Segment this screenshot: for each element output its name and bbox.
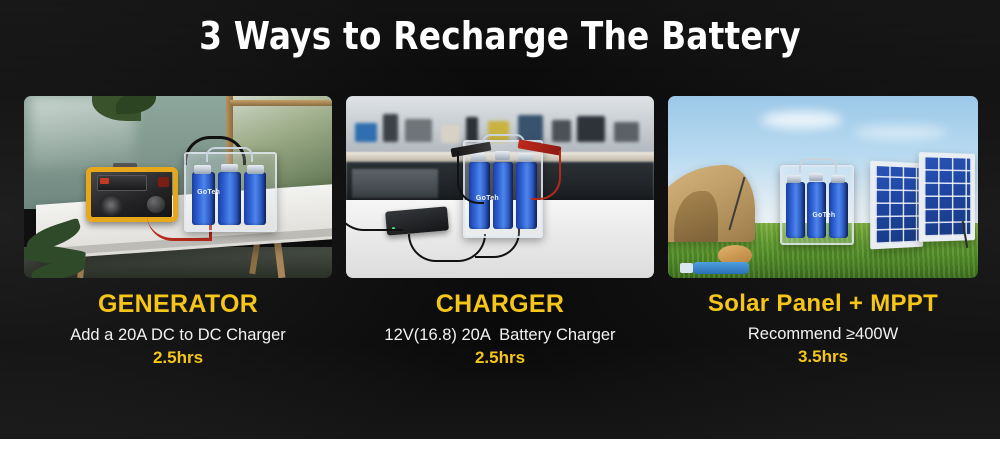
page-title: 3 Ways to Recharge The Battery <box>20 14 980 58</box>
card-subtitle: 12V(16.8) 20A Battery Charger <box>346 326 654 345</box>
tool-item <box>577 116 605 142</box>
cloud <box>854 125 947 140</box>
recharge-banner: 3 Ways to Recharge The Battery <box>0 0 1000 439</box>
battery-terminal <box>809 173 823 181</box>
battery-terminal <box>831 175 845 183</box>
recharge-method-card-charger[interactable]: GoTeh CHARGER 12V(16.8) 20A Battery Char… <box>346 96 654 368</box>
battery-terminal <box>787 175 801 183</box>
battery-terminal <box>247 165 264 174</box>
card-title: CHARGER <box>346 290 654 319</box>
plant <box>24 209 110 278</box>
charger-photo: GoTeh <box>346 96 654 278</box>
battery-brand-label: GoTeh <box>197 189 220 196</box>
tool-item <box>466 117 478 142</box>
battery-cell <box>244 172 266 225</box>
solar-panel-cells <box>875 166 918 244</box>
battery-handle <box>799 158 837 173</box>
bottle-cap <box>680 263 692 274</box>
generator-indicator-light <box>100 178 108 185</box>
card-title: Solar Panel + MPPT <box>668 290 978 318</box>
solar-panel <box>870 160 923 249</box>
solar-photo: GoTeh <box>668 96 978 278</box>
water-bottle <box>693 262 749 275</box>
battery-pack: GoTeh <box>184 152 276 232</box>
card-duration: 3.5hrs <box>668 347 978 367</box>
card-subtitle: Recommend ≥400W <box>668 325 978 344</box>
bottom-white-strip <box>0 439 1000 455</box>
battery-cell <box>218 172 240 225</box>
tool-item <box>552 120 570 142</box>
window-frame-horizontal <box>230 100 332 106</box>
cloud <box>761 111 842 129</box>
battery-terminal <box>194 165 211 174</box>
tool-item <box>355 123 377 142</box>
battery-brand-label: GoTeh <box>812 212 835 219</box>
recharge-methods-list: GoTeh GENERATOR Add a 20A DC to DC Charg… <box>24 96 978 368</box>
battery-pack: GoTeh <box>780 165 854 245</box>
tool-item <box>441 125 459 143</box>
card-duration: 2.5hrs <box>346 348 654 368</box>
solar-caption: Solar Panel + MPPT Recommend ≥400W 3.5hr… <box>668 278 978 367</box>
recharge-method-card-solar[interactable]: GoTeh Solar Panel + MPPT Recomme <box>668 96 978 368</box>
card-title: GENERATOR <box>24 290 332 319</box>
generator-switch <box>158 177 169 187</box>
generator-caption: GENERATOR Add a 20A DC to DC Charger 2.5… <box>24 278 332 368</box>
tool-item <box>614 122 639 142</box>
battery-cell <box>807 182 826 238</box>
tool-item <box>383 114 398 142</box>
tool-item <box>405 119 433 142</box>
charger-caption: CHARGER 12V(16.8) 20A Battery Charger 2.… <box>346 278 654 368</box>
equipment-rack <box>352 169 438 198</box>
battery-cell <box>829 182 848 238</box>
battery-terminal <box>495 151 510 160</box>
card-duration: 2.5hrs <box>24 348 332 368</box>
black-lead-wire <box>457 151 484 204</box>
recharge-method-card-generator[interactable]: GoTeh GENERATOR Add a 20A DC to DC Charg… <box>24 96 332 368</box>
battery-terminal <box>221 164 238 173</box>
solar-panel <box>919 152 975 242</box>
power-cord <box>346 196 403 231</box>
solar-panel-array <box>870 147 975 253</box>
battery-cell <box>192 172 214 225</box>
card-subtitle: Add a 20A DC to DC Charger <box>24 326 332 345</box>
battery-cell <box>786 182 805 238</box>
battery-handle <box>206 147 252 162</box>
generator-photo: GoTeh <box>24 96 332 278</box>
